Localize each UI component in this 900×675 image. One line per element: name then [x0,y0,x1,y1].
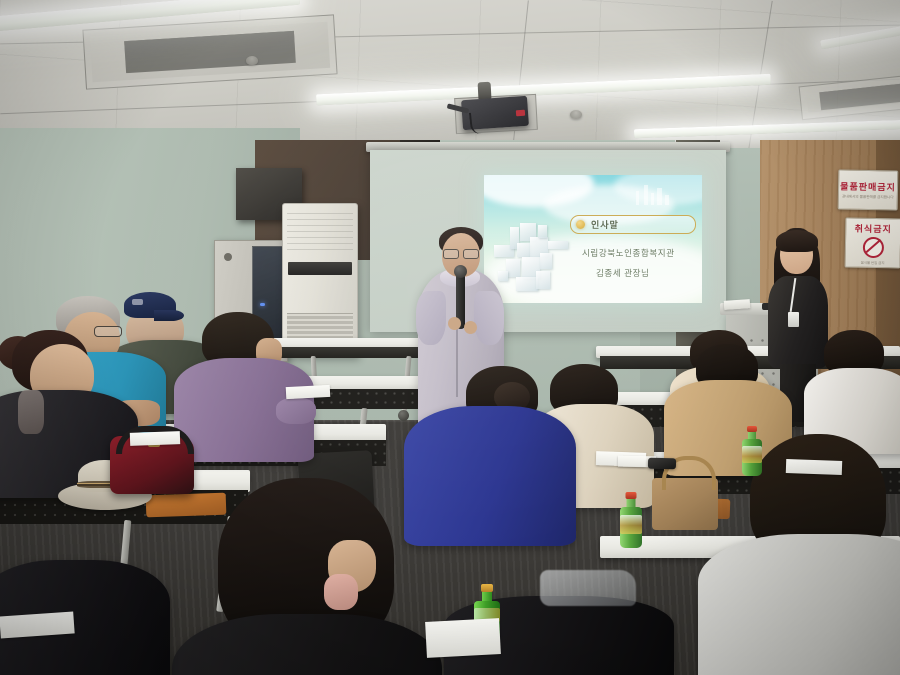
projector-mount [478,82,492,100]
sleeve-left [416,291,446,345]
microphone-head [454,265,467,278]
bottle-cap [481,584,493,592]
top [172,614,442,675]
sprinkler-head [570,110,582,119]
slide-badge-label: 인사말 [591,218,619,231]
sign-subtitle: 음식물 반입 금지 [861,259,885,264]
juice-bottle-right [620,492,642,548]
slide-line-1: 시립강북노인종합복지관 [582,247,675,259]
tan-handbag [652,478,718,530]
badge-dot-icon [576,220,585,229]
no-goods-sale-sign: 물품판매금지 관내에서의 물품판매를 금지합니다 [838,169,899,210]
slide-section-badge: 인사말 [570,215,696,234]
slide-line-2: 김종세 관장님 [596,267,649,279]
bottle-label [620,515,642,534]
juice-bottle-center [742,426,762,476]
paper-handout [786,459,842,475]
prohibition-icon [862,236,883,257]
bottle-cap [626,492,637,499]
knit-top [698,534,900,675]
seminar-room-photo: 물품판매금지 관내에서의 물품판매를 금지합니다 취식금지 음식물 반입 금지 [0,0,900,675]
person-purple-jacket [178,312,308,452]
projector-indicator [516,110,525,117]
paper-on-podium [724,299,751,310]
plastic-bag [540,570,636,606]
arm [276,398,316,424]
sign-title: 취식금지 [855,221,892,235]
woman-long-black-hair-foreground [196,496,446,675]
woman-gray-knit-foreground-right [712,440,900,675]
glasses-icon [443,249,479,257]
ac-grille [124,31,296,74]
scarf [18,390,44,434]
phone-on-table [648,458,676,469]
sign-subtitle: 관내에서의 물품판매를 금지합니다 [842,195,894,201]
scarf [324,574,358,610]
id-badge [788,312,799,327]
hair-front [776,230,818,252]
sleeve-right [474,291,504,345]
paper-handout [130,431,180,446]
ac-grille [819,84,900,110]
bottle-label [742,446,762,463]
sprinkler-head [246,56,258,65]
hand-right [464,321,477,334]
hand-left [448,317,461,330]
sign-title: 물품판매금지 [840,180,896,194]
paper-handout [425,618,501,658]
paper-handout [286,385,331,399]
person-white-shirt-right [808,330,900,450]
projected-slide: 인사말 시립강북노인종합복지관 김종세 관장님 [484,175,702,303]
no-eating-sign: 취식금지 음식물 반입 금지 [845,218,900,269]
